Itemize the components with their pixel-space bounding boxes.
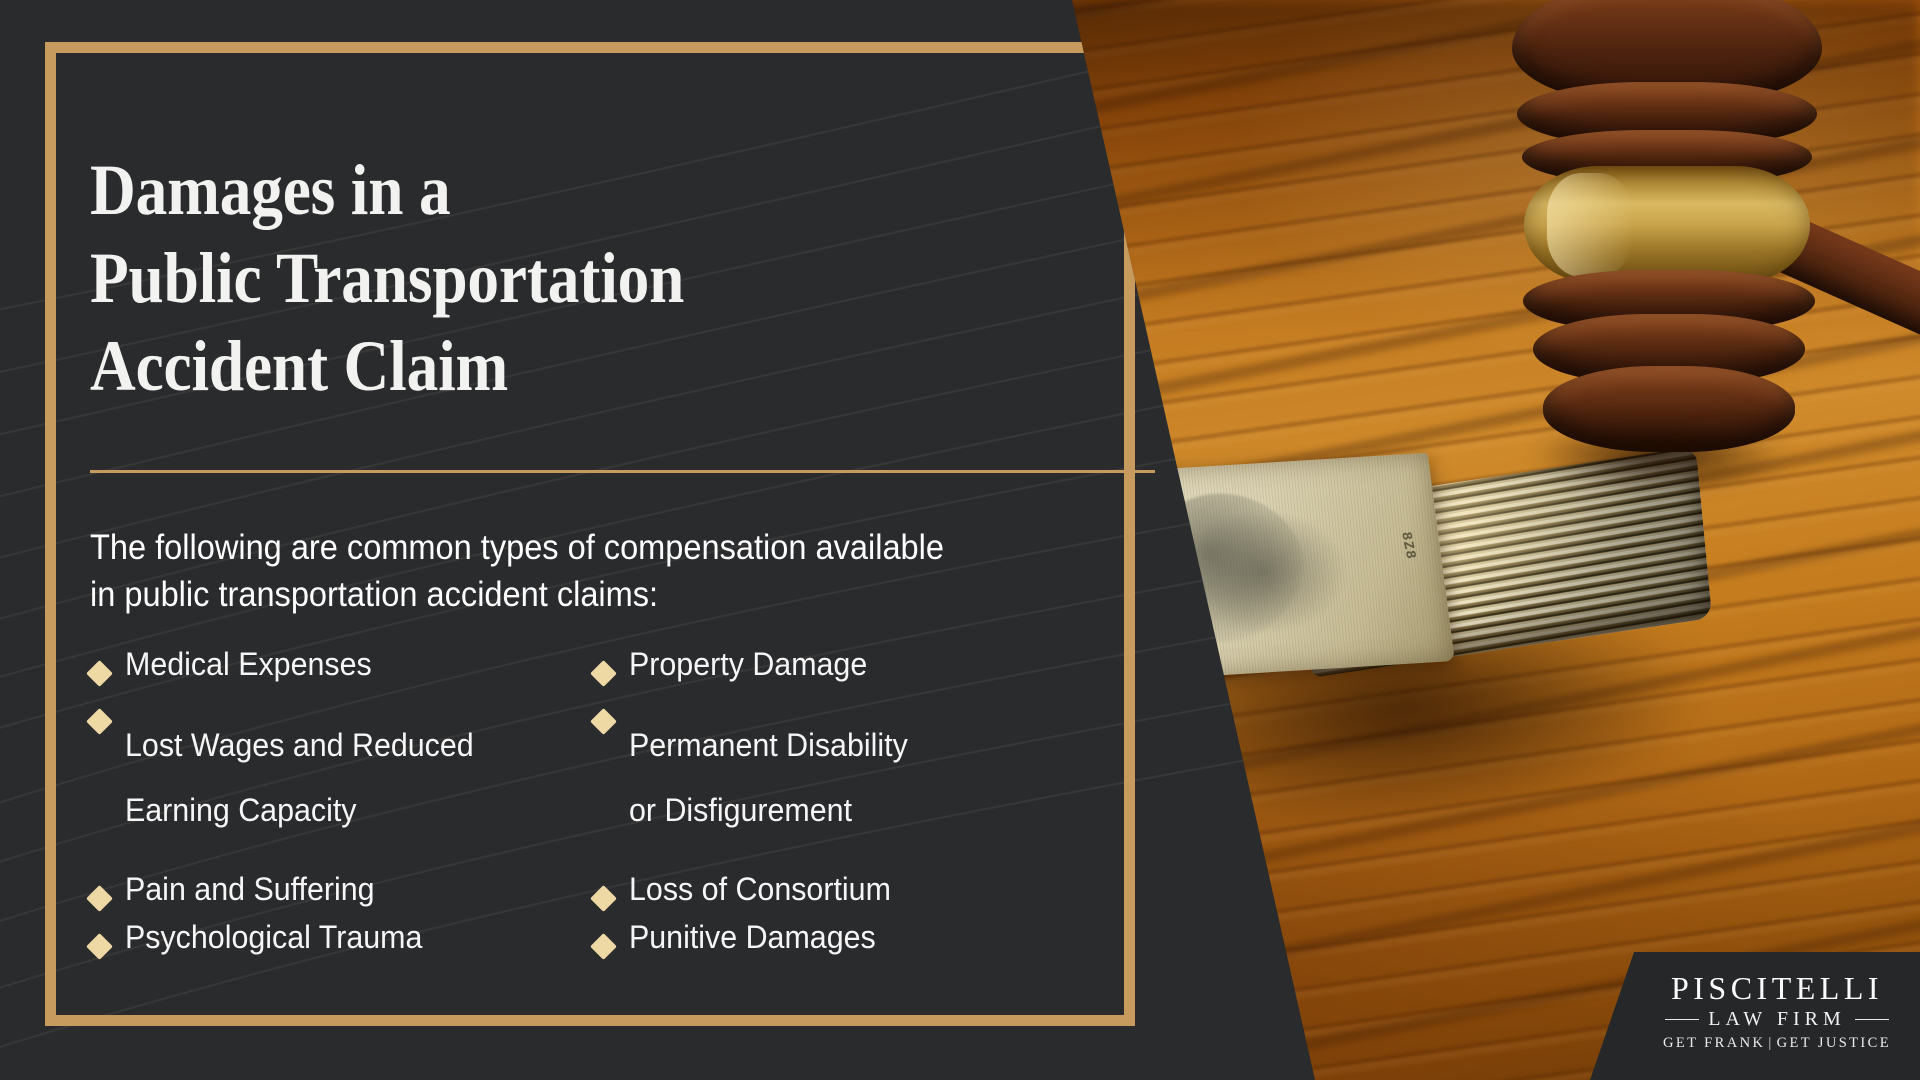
tagline-left: GET FRANK (1663, 1035, 1765, 1051)
list-item-label: Lost Wages and Reduced Earning Capacity (125, 696, 474, 860)
diamond-bullet-icon (590, 660, 617, 687)
firm-logo-badge[interactable]: PISCITELLI LAW FIRM GET FRANK|GET JUSTIC… (1590, 952, 1920, 1080)
intro-line-2: in public transportation accident claims… (90, 571, 1132, 618)
list-item-label-line-1: Lost Wages and Reduced (125, 727, 474, 763)
tagline-right: GET JUSTICE (1777, 1035, 1891, 1051)
intro-line-1: The following are common types of compen… (90, 524, 1132, 571)
gold-divider (90, 470, 1155, 473)
gavel-shadow (1528, 422, 1788, 490)
bill-serial-number: 8Z8 (1397, 531, 1418, 561)
diamond-bullet-icon (590, 933, 617, 960)
firm-type: LAW FIRM (1708, 1008, 1845, 1031)
list-item: Pain and Suffering (90, 873, 550, 908)
compensation-lists: Medical Expenses Lost Wages and Reduced … (90, 648, 1100, 969)
diamond-bullet-icon (86, 660, 113, 687)
title-line-3: Accident Claim (90, 322, 935, 410)
rule-right (1855, 1019, 1889, 1020)
list-item-label: Property Damage (629, 648, 867, 681)
gavel-brass-band (1524, 166, 1810, 284)
list-item: Lost Wages and Reduced Earning Capacity (90, 696, 550, 860)
poster-canvas: 8Z8 (0, 0, 1920, 1080)
list-item-label-line-2: Earning Capacity (125, 794, 474, 827)
list-item: Medical Expenses (90, 648, 550, 683)
firm-name: PISCITELLI (1646, 970, 1908, 1006)
list-item: Psychological Trauma (90, 921, 550, 956)
title-line-2: Public Transportation (90, 234, 935, 322)
list-item: Punitive Damages (594, 921, 1054, 956)
panel-content: Damages in a Public Transportation Accid… (90, 0, 1100, 1080)
diamond-bullet-icon (86, 885, 113, 912)
list-item-label: Punitive Damages (629, 921, 876, 954)
list-item: Permanent Disability or Disfigurement (594, 696, 1054, 860)
benefits-right-column: Property Damage Permanent Disability or … (594, 648, 1054, 969)
rule-left (1665, 1019, 1699, 1020)
diamond-bullet-icon (590, 708, 617, 735)
list-item: Property Damage (594, 648, 1054, 683)
title-line-1: Damages in a (90, 146, 935, 234)
list-item-label-line-2: or Disfigurement (629, 794, 908, 827)
page-title: Damages in a Public Transportation Accid… (90, 146, 935, 410)
list-item-label: Pain and Suffering (125, 873, 375, 906)
diamond-bullet-icon (590, 885, 617, 912)
list-item-label: Permanent Disability or Disfigurement (629, 696, 908, 860)
tagline-separator: | (1768, 1035, 1773, 1051)
diamond-bullet-icon (86, 933, 113, 960)
list-item-label: Psychological Trauma (125, 921, 422, 954)
list-item: Loss of Consortium (594, 873, 1054, 908)
intro-paragraph: The following are common types of compen… (90, 524, 1132, 618)
gavel-icon (1360, 0, 1880, 530)
diamond-bullet-icon (86, 708, 113, 735)
firm-type-row: LAW FIRM (1646, 1008, 1908, 1031)
benefits-left-column: Medical Expenses Lost Wages and Reduced … (90, 648, 550, 969)
firm-tagline: GET FRANK|GET JUSTICE (1646, 1035, 1908, 1052)
list-item-label-line-1: Permanent Disability (629, 727, 908, 763)
list-item-label: Medical Expenses (125, 648, 372, 681)
list-item-label: Loss of Consortium (629, 873, 891, 906)
firm-logo: PISCITELLI LAW FIRM GET FRANK|GET JUSTIC… (1646, 970, 1908, 1052)
